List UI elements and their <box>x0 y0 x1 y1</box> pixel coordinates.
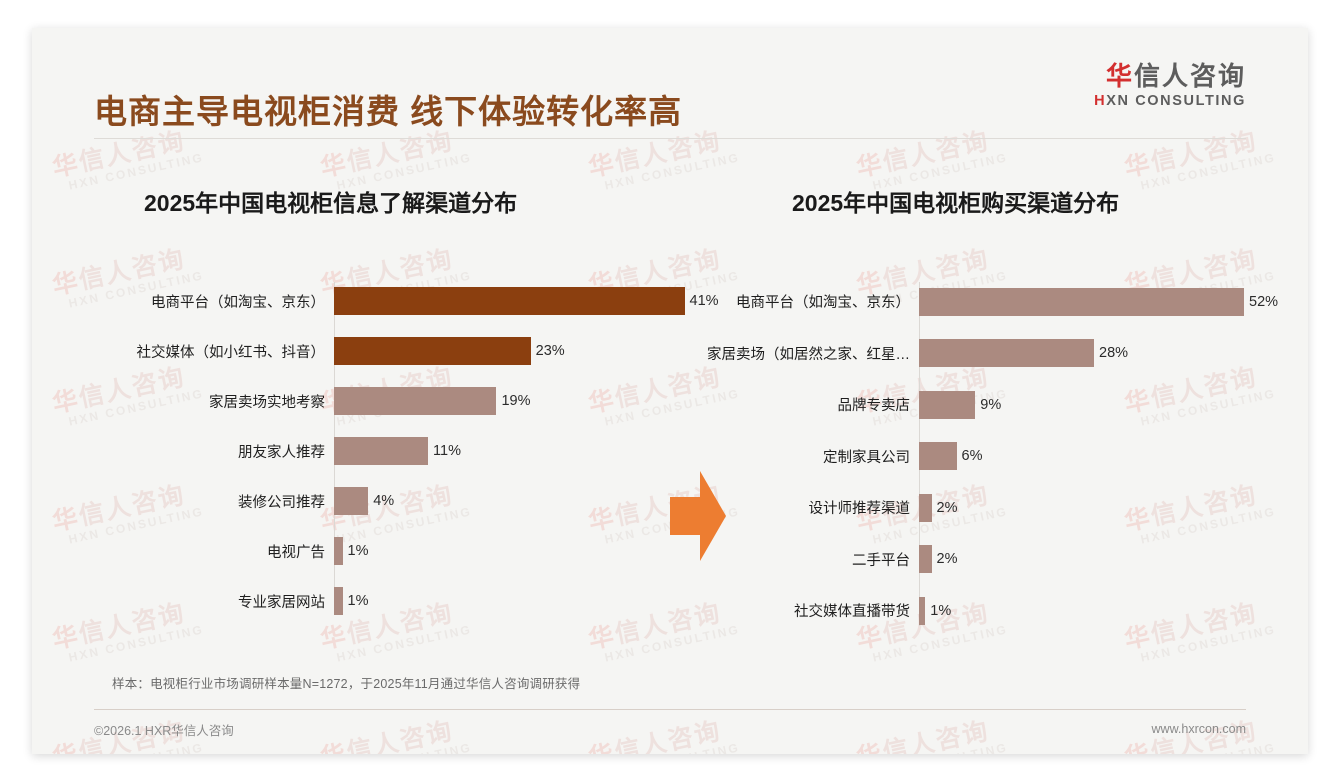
bar-row[interactable]: 电商平台（如淘宝、京东）41% <box>72 276 672 326</box>
logo-chinese-rest: 信人咨询 <box>1134 61 1246 91</box>
bar-category-label: 电商平台（如淘宝、京东） <box>692 291 919 312</box>
bar-track: 41% <box>334 287 719 315</box>
bar-segment[interactable] <box>919 442 957 470</box>
bar-value-label: 19% <box>501 393 530 409</box>
bar-segment[interactable] <box>919 391 975 419</box>
bar-row[interactable]: 朋友家人推荐11% <box>72 426 672 476</box>
copyright-text: ©2026.1 HXR华信人咨询 <box>94 720 234 739</box>
bar-value-label: 23% <box>536 343 565 359</box>
bar-rows-left: 电商平台（如淘宝、京东）41%社交媒体（如小红书、抖音）23%家居卖场实地考察1… <box>72 276 672 626</box>
bar-row[interactable]: 电视广告1% <box>72 526 672 576</box>
bar-chart-right: 电商平台（如淘宝、京东）52%家居卖场（如居然之家、红星…28%品牌专卖店9%定… <box>692 276 1272 637</box>
bar-segment[interactable] <box>334 587 343 615</box>
bar-row[interactable]: 家居卖场实地考察19% <box>72 376 672 426</box>
bar-value-label: 2% <box>937 500 958 516</box>
charts-region: 2025年中国电视柜信息了解渠道分布 电商平台（如淘宝、京东）41%社交媒体（如… <box>32 146 1308 656</box>
bar-category-label: 电视广告 <box>72 541 334 562</box>
chart-panel-left: 2025年中国电视柜信息了解渠道分布 电商平台（如淘宝、京东）41%社交媒体（如… <box>72 146 672 656</box>
bar-segment[interactable] <box>334 287 685 315</box>
chart-title-right: 2025年中国电视柜购买渠道分布 <box>792 184 1119 218</box>
bar-track: 28% <box>919 339 1272 367</box>
bar-track: 2% <box>919 545 1272 573</box>
logo-english-accent: H <box>1094 93 1106 109</box>
bar-track: 1% <box>334 537 672 565</box>
bar-segment[interactable] <box>334 337 531 365</box>
bar-track: 11% <box>334 437 672 465</box>
bar-track: 6% <box>919 442 1272 470</box>
bar-row[interactable]: 社交媒体（如小红书、抖音）23% <box>72 326 672 376</box>
bar-value-label: 28% <box>1099 345 1128 361</box>
bar-segment[interactable] <box>919 494 932 522</box>
slide-footer: ©2026.1 HXR华信人咨询 www.hxrcon.com <box>94 716 1246 742</box>
bar-track: 2% <box>919 494 1272 522</box>
bar-category-label: 家居卖场实地考察 <box>72 391 334 412</box>
bar-track: 19% <box>334 387 672 415</box>
bar-segment[interactable] <box>334 387 496 415</box>
chart-panel-right: 2025年中国电视柜购买渠道分布 电商平台（如淘宝、京东）52%家居卖场（如居然… <box>692 146 1272 656</box>
bar-segment[interactable] <box>334 537 343 565</box>
bar-category-label: 社交媒体直播带货 <box>692 600 919 621</box>
bar-row[interactable]: 定制家具公司6% <box>692 431 1272 483</box>
bar-track: 9% <box>919 391 1272 419</box>
bar-value-label: 2% <box>937 551 958 567</box>
bar-row[interactable]: 电商平台（如淘宝、京东）52% <box>692 276 1272 328</box>
bar-row[interactable]: 专业家居网站1% <box>72 576 672 626</box>
bar-track: 4% <box>334 487 672 515</box>
bar-category-label: 二手平台 <box>692 549 919 570</box>
logo-english: HXN CONSULTING <box>1094 93 1246 109</box>
bar-category-label: 设计师推荐渠道 <box>692 497 919 518</box>
bar-value-label: 1% <box>348 543 369 559</box>
logo-english-rest: XN CONSULTING <box>1106 93 1246 109</box>
bar-track: 1% <box>334 587 672 615</box>
bar-category-label: 电商平台（如淘宝、京东） <box>72 291 334 312</box>
bar-segment[interactable] <box>919 339 1094 367</box>
slide-card: 华信人咨询HXN CONSULTING华信人咨询HXN CONSULTING华信… <box>32 28 1308 754</box>
footer-divider <box>94 709 1246 710</box>
logo-accent-char: 华 <box>1106 61 1134 91</box>
bar-track: 23% <box>334 337 672 365</box>
page-title: 电商主导电视柜消费 线下体验转化率高 <box>94 85 682 133</box>
bar-row[interactable]: 设计师推荐渠道2% <box>692 482 1272 534</box>
bar-category-label: 社交媒体（如小红书、抖音） <box>72 341 334 362</box>
bar-category-label: 专业家居网站 <box>72 591 334 612</box>
bar-category-label: 朋友家人推荐 <box>72 441 334 462</box>
title-divider <box>94 138 1246 139</box>
bar-value-label: 4% <box>373 493 394 509</box>
bar-row[interactable]: 品牌专卖店9% <box>692 379 1272 431</box>
bar-value-label: 11% <box>433 443 461 459</box>
bar-value-label: 6% <box>962 448 983 464</box>
bar-segment[interactable] <box>334 487 368 515</box>
bar-chart-left: 电商平台（如淘宝、京东）41%社交媒体（如小红书、抖音）23%家居卖场实地考察1… <box>72 276 672 626</box>
bar-row[interactable]: 家居卖场（如居然之家、红星…28% <box>692 328 1272 380</box>
logo-chinese: 华信人咨询 <box>1094 62 1246 92</box>
bar-segment[interactable] <box>334 437 428 465</box>
bar-track: 1% <box>919 597 1272 625</box>
brand-logo: 华信人咨询 HXN CONSULTING <box>1094 62 1246 109</box>
bar-value-label: 1% <box>930 603 951 619</box>
bar-value-label: 9% <box>980 397 1001 413</box>
bar-row[interactable]: 装修公司推荐4% <box>72 476 672 526</box>
bar-category-label: 家居卖场（如居然之家、红星… <box>692 343 919 364</box>
bar-category-label: 定制家具公司 <box>692 446 919 467</box>
bar-value-label: 52% <box>1249 294 1278 310</box>
bar-row[interactable]: 二手平台2% <box>692 534 1272 586</box>
arrow-right-icon <box>670 471 726 561</box>
bar-track: 52% <box>919 288 1278 316</box>
bar-category-label: 装修公司推荐 <box>72 491 334 512</box>
website-url[interactable]: www.hxrcon.com <box>1152 722 1246 736</box>
bar-segment[interactable] <box>919 288 1244 316</box>
bar-rows-right: 电商平台（如淘宝、京东）52%家居卖场（如居然之家、红星…28%品牌专卖店9%定… <box>692 276 1272 637</box>
slide-header: 电商主导电视柜消费 线下体验转化率高 华信人咨询 HXN CONSULTING <box>32 28 1308 146</box>
bar-row[interactable]: 社交媒体直播带货1% <box>692 585 1272 637</box>
bar-value-label: 1% <box>348 593 369 609</box>
bar-category-label: 品牌专卖店 <box>692 394 919 415</box>
sample-note: 样本：电视柜行业市场调研样本量N=1272，于2025年11月通过华信人咨询调研… <box>112 673 580 692</box>
chart-title-left: 2025年中国电视柜信息了解渠道分布 <box>144 184 517 218</box>
bar-segment[interactable] <box>919 597 925 625</box>
bar-segment[interactable] <box>919 545 932 573</box>
